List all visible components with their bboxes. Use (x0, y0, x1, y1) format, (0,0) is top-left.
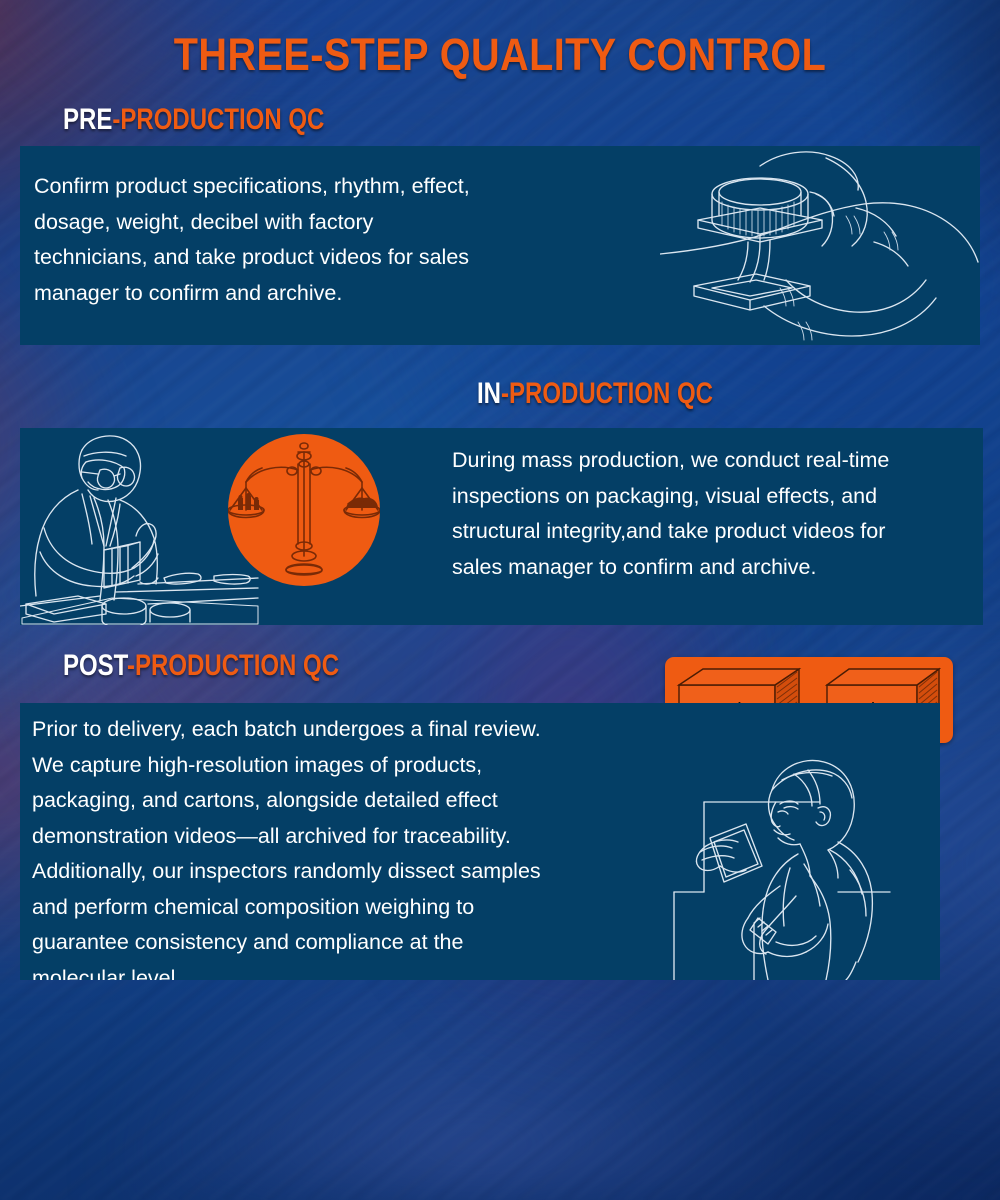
heading-separator: - (501, 377, 509, 410)
panel-body-pre-production: Confirm product specifications, rhythm, … (34, 169, 634, 311)
heading-white-part: POST (63, 649, 127, 682)
heading-white-part: IN (477, 377, 501, 410)
panel-body-in-production: During mass production, we conduct real-… (452, 443, 983, 585)
section-heading-post-production: POST-PRODUCTION QC (63, 650, 339, 682)
section-heading-in-production: IN-PRODUCTION QC (477, 378, 713, 410)
heading-orange-part: PRODUCTION QC (120, 103, 324, 136)
heading-orange-part: PRODUCTION QC (135, 649, 339, 682)
heading-white-part: PRE (63, 103, 112, 136)
section-heading-pre-production: PRE-PRODUCTION QC (63, 104, 324, 136)
page-title: THREE-STEP QUALITY CONTROL (60, 32, 940, 77)
heading-orange-part: PRODUCTION QC (509, 377, 713, 410)
heading-separator: - (127, 649, 135, 682)
heading-separator: - (112, 103, 120, 136)
man-with-tablet-icon (660, 746, 950, 980)
panel-body-post-production: Prior to delivery, each batch undergoes … (32, 712, 672, 980)
balance-scales-icon (228, 434, 380, 586)
hand-holding-component-icon (660, 146, 980, 345)
inspector-at-workbench-icon (20, 428, 260, 625)
